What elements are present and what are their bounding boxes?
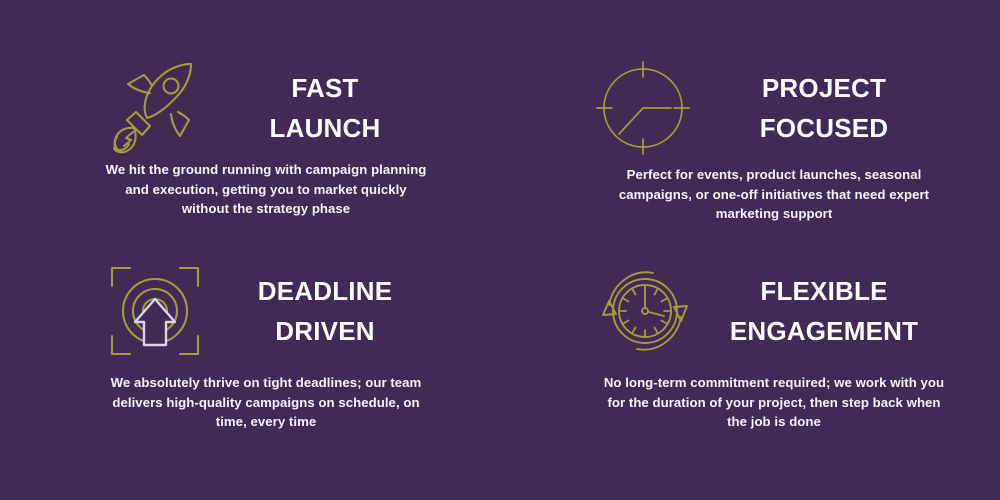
feature-card-project-focused: PROJECT FOCUSED Perfect for events, prod… [500,0,1000,245]
feature-card-flexible-engagement: FLEXIBLE ENGAGEMENT No long-term commitm… [500,245,1000,500]
feature-card-header: FAST LAUNCH [100,52,450,164]
rocket-icon [100,53,210,163]
feature-description: Perfect for events, product launches, se… [598,165,950,224]
feature-description: We hit the ground running with campaign … [100,160,432,219]
feature-title: DEADLINE DRIVEN [210,271,450,351]
target-arrow-icon [100,256,210,366]
feature-description: No long-term commitment required; we wor… [598,373,950,432]
feature-card-deadline-driven: DEADLINE DRIVEN We absolutely thrive on … [0,245,500,500]
feature-title: PROJECT FOCUSED [698,68,960,148]
feature-description: We absolutely thrive on tight deadlines;… [100,373,432,432]
feature-card-header: PROJECT FOCUSED [588,52,960,164]
clock-rotate-icon [588,256,698,366]
feature-title: FLEXIBLE ENGAGEMENT [698,271,960,351]
features-board: FAST LAUNCH We hit the ground running wi… [0,0,1000,500]
feature-card-header: FLEXIBLE ENGAGEMENT [588,255,960,367]
feature-card-header: DEADLINE DRIVEN [100,255,450,367]
feature-title: FAST LAUNCH [210,68,450,148]
clock-icon [588,53,698,163]
features-grid: FAST LAUNCH We hit the ground running wi… [0,0,1000,500]
feature-card-fast-launch: FAST LAUNCH We hit the ground running wi… [0,0,500,245]
